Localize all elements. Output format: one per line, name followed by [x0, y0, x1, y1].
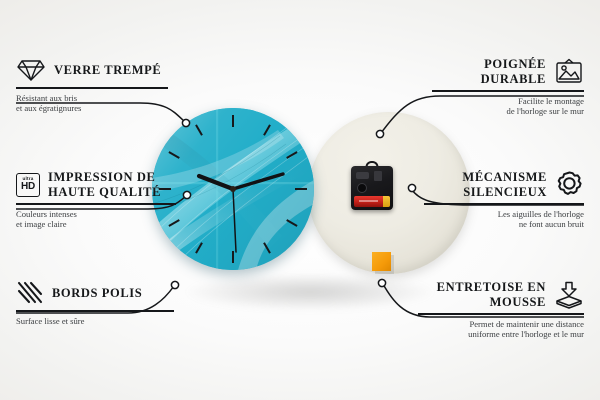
feature-title: ENTRETOISE EN MOUSSE [418, 280, 546, 309]
feature-divider [16, 310, 174, 312]
feature-description: Couleurs intenses et image claire [16, 209, 176, 230]
feature-title: MÉCANISME SILENCIEUX [424, 170, 547, 199]
gear-icon [555, 170, 584, 199]
movement-detail [374, 171, 382, 181]
foam-spacer-icon [554, 281, 584, 309]
feature-divider [418, 313, 584, 315]
feature-title: POIGNÉE DURABLE [432, 57, 546, 86]
clock-movement-mechanism [351, 166, 393, 210]
infographic-canvas: VERRE TREMPÉ Résistant aux bris et aux é… [0, 0, 600, 400]
feature-bords-polis: BORDS POLIS Surface lisse et sûre [16, 280, 174, 326]
feature-divider [16, 87, 168, 89]
feature-description: Résistant aux bris et aux égratignures [16, 93, 168, 114]
feature-verre-trempe: VERRE TREMPÉ Résistant aux bris et aux é… [16, 57, 168, 113]
movement-dial [357, 183, 367, 193]
feature-description: Les aiguilles de l'horloge ne font aucun… [424, 209, 584, 230]
feature-header: ultra HD IMPRESSION DE HAUTE QUALITÉ [16, 170, 176, 199]
minute-hand [233, 174, 283, 189]
feature-divider [16, 203, 176, 205]
ultra-hd-icon: ultra HD [16, 173, 40, 197]
movement-detail [356, 172, 369, 179]
feature-title: VERRE TREMPÉ [54, 63, 161, 78]
battery [354, 196, 390, 207]
second-hand [233, 189, 236, 252]
feature-header: VERRE TREMPÉ [16, 57, 168, 83]
feature-header: ENTRETOISE EN MOUSSE [418, 280, 584, 309]
feature-divider [432, 90, 584, 92]
feature-header: BORDS POLIS [16, 280, 174, 306]
foam-spacer-pad [372, 252, 391, 271]
wall-hanger-icon [554, 58, 584, 85]
hands-center-cap [230, 186, 236, 192]
feature-header: MÉCANISME SILENCIEUX [424, 170, 584, 199]
ultra-hd-icon-main-text: HD [21, 182, 35, 192]
diamond-icon [16, 57, 46, 83]
feature-mecanisme-silencieux: MÉCANISME SILENCIEUX Les aiguilles de l'… [424, 170, 584, 229]
feature-description: Permet de maintenir une distance uniform… [418, 319, 584, 340]
clock-face [152, 108, 314, 270]
feature-entretoise-en-mousse: ENTRETOISE EN MOUSSE Permet de maintenir… [418, 280, 584, 339]
feature-description: Surface lisse et sûre [16, 316, 174, 326]
movement-housing [351, 166, 393, 210]
feature-divider [424, 203, 584, 205]
feature-impression-haute-qualite: ultra HD IMPRESSION DE HAUTE QUALITÉ Cou… [16, 170, 176, 229]
feature-header: POIGNÉE DURABLE [432, 57, 584, 86]
clock-hands [152, 108, 314, 270]
feature-title: BORDS POLIS [52, 286, 142, 301]
feature-description: Facilite le montage de l'horloge sur le … [432, 96, 584, 117]
polished-edges-icon [16, 280, 44, 306]
feature-poignee-durable: POIGNÉE DURABLE Facilite le montage de l… [432, 57, 584, 116]
feature-title: IMPRESSION DE HAUTE QUALITÉ [48, 170, 176, 199]
hour-hand [199, 176, 233, 189]
